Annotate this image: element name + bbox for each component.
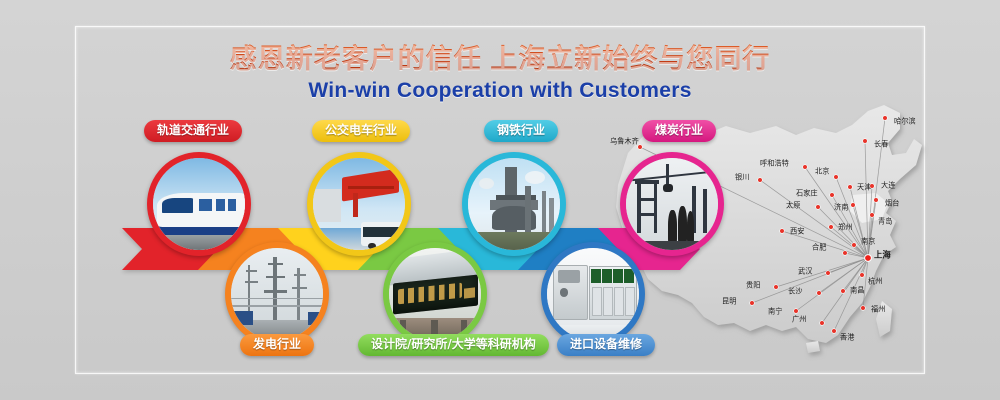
power-photo (231, 248, 323, 340)
city-label: 上海 (874, 250, 891, 260)
city-dot (865, 255, 872, 262)
city-label: 天津 (857, 183, 871, 192)
city-label: 济南 (834, 203, 848, 212)
city-label: 贵阳 (746, 281, 760, 290)
city-label: 合肥 (812, 243, 826, 252)
city-dot (834, 175, 839, 180)
city-label: 青岛 (878, 217, 892, 226)
city-label: 呼和浩特 (760, 159, 789, 168)
city-dot (826, 271, 831, 276)
city-dot (851, 203, 856, 208)
city-dot (843, 251, 848, 256)
city-label: 长春 (874, 140, 888, 149)
rail-label-pill: 轨道交通行业 (144, 120, 242, 142)
city-dot (852, 243, 857, 248)
city-dot (830, 193, 835, 198)
bus-photo (313, 158, 405, 250)
city-dot (832, 329, 837, 334)
city-dot (870, 184, 875, 189)
city-dot (848, 185, 853, 190)
train-icon (153, 158, 245, 250)
city-label: 福州 (871, 305, 885, 314)
power-label-pill: 发电行业 (240, 334, 314, 356)
city-label: 杭州 (868, 277, 882, 286)
city-dot (758, 178, 763, 183)
equipment-photo (547, 248, 639, 340)
city-label: 长沙 (788, 287, 802, 296)
city-label: 北京 (815, 167, 829, 176)
city-label: 西安 (790, 227, 804, 236)
switchgear-icon (547, 248, 639, 340)
power-circle[interactable] (225, 242, 329, 346)
bus-label-pill: 公交电车行业 (312, 120, 410, 142)
city-dot (794, 309, 799, 314)
city-label: 乌鲁木齐 (610, 137, 639, 146)
rail-photo (153, 158, 245, 250)
city-label: 香港 (840, 333, 855, 342)
university-photo (389, 248, 481, 340)
city-label: 武汉 (798, 267, 812, 276)
steel-label-pill: 钢铁行业 (484, 120, 558, 142)
city-label: 郑州 (838, 223, 852, 232)
university-label-pill: 设计院/研究所/大学等科研机构 (358, 334, 549, 356)
steel-mill-icon (468, 158, 560, 250)
bus-circle[interactable] (307, 152, 411, 256)
city-label: 南京 (861, 237, 875, 246)
city-label: 太原 (786, 201, 800, 210)
city-label: 南宁 (768, 307, 782, 316)
city-dot (774, 285, 779, 290)
bus-icon (313, 158, 405, 250)
equipment-label-pill: 进口设备维修 (557, 334, 655, 356)
coal-label-pill: 煤炭行业 (642, 120, 716, 142)
city-dot (874, 198, 879, 203)
steel-circle[interactable] (462, 152, 566, 256)
steel-photo (468, 158, 560, 250)
equipment-circle[interactable] (541, 242, 645, 346)
city-dot (860, 273, 865, 278)
university-circle[interactable] (383, 242, 487, 346)
university-icon (389, 248, 481, 340)
city-dot (780, 229, 785, 234)
coal-mine-icon (626, 158, 718, 250)
city-label: 烟台 (885, 199, 899, 208)
city-label: 昆明 (722, 297, 736, 306)
city-dot (861, 306, 866, 311)
city-label: 南昌 (850, 286, 864, 295)
coal-circle[interactable] (620, 152, 724, 256)
city-dot (817, 291, 822, 296)
city-label: 石家庄 (796, 189, 818, 198)
city-dot (829, 225, 834, 230)
city-dot (883, 116, 888, 121)
city-dot (820, 321, 825, 326)
city-dot (841, 289, 846, 294)
banner-root: 感恩新老客户的信任 上海立新始终与您同行 Win-win Cooperation… (0, 0, 1000, 400)
city-dot (870, 213, 875, 218)
city-dot (863, 139, 868, 144)
city-label: 广州 (792, 315, 806, 324)
city-dot (750, 301, 755, 306)
city-dot (803, 165, 808, 170)
rail-circle[interactable] (147, 152, 251, 256)
city-label: 银川 (735, 173, 749, 182)
headline-chinese: 感恩新老客户的信任 上海立新始终与您同行 (0, 44, 1000, 75)
city-dot (816, 205, 821, 210)
coal-photo (626, 158, 718, 250)
power-plant-icon (231, 248, 323, 340)
city-label: 哈尔滨 (894, 117, 916, 126)
city-label: 大连 (881, 181, 895, 190)
